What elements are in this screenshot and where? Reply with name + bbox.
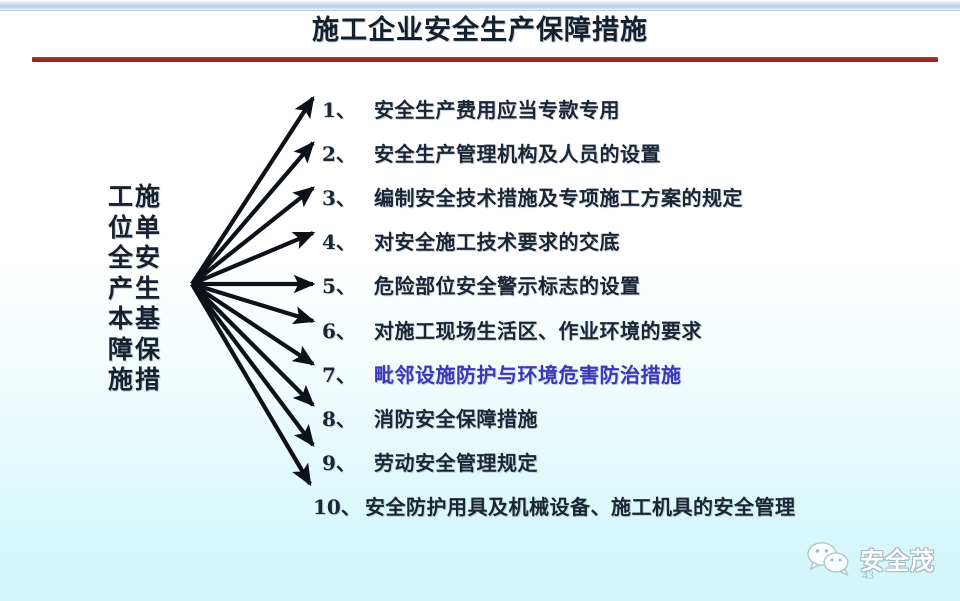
list-item: 6、 对施工现场生活区、作业环境的要求 [322,307,922,351]
list-item-label: 劳动安全管理规定 [374,447,538,476]
left-heading-column-right: 施 单 安 生 基 保 措 [135,182,160,396]
measures-list: 1、 安全生产费用应当专款专用 2、 安全生产管理机构及人员的设置 3、 编制安… [322,86,922,528]
left-heading-char: 措 [135,365,160,396]
list-item-number: 5、 [322,270,374,299]
list-item-label: 对安全施工技术要求的交底 [374,226,620,255]
left-heading-char: 单 [135,213,160,244]
list-item: 9、 劳动安全管理规定 [322,440,922,484]
list-item-number: 10、 [313,491,365,520]
arrow-to-item-3 [192,188,313,284]
list-item: 5、 危险部位安全警示标志的设置 [322,263,922,307]
left-heading-char: 本 [108,304,133,335]
list-item: 8、 消防安全保障措施 [322,395,922,439]
list-item: 3、 编制安全技术措施及专项施工方案的规定 [322,174,922,218]
left-heading-char: 产 [108,274,133,305]
arrow-to-item-6 [192,284,313,321]
list-item-label: 消防安全保障措施 [374,403,538,432]
arrow-to-item-2 [192,143,313,284]
left-heading-column-left: 工 位 全 产 本 障 施 [108,182,133,396]
left-heading-char: 安 [135,243,160,274]
wechat-icon [806,540,852,576]
left-heading-char: 全 [108,243,133,274]
page-number: 43 [862,568,874,583]
left-heading-char: 施 [135,182,160,213]
list-item-label: 对施工现场生活区、作业环境的要求 [374,315,702,344]
list-item-number: 1、 [322,94,374,123]
list-item-label: 安全生产管理机构及人员的设置 [374,138,661,167]
left-heading-char: 障 [108,335,133,366]
arrow-to-item-7 [192,284,313,364]
left-heading-char: 基 [135,304,160,335]
list-item-label: 安全防护用具及机械设备、施工机具的安全管理 [365,491,796,520]
arrow-to-item-8 [192,284,313,405]
list-item-number: 8、 [322,403,374,432]
left-heading-char: 施 [108,365,133,396]
list-item-number: 4、 [322,226,374,255]
list-item: 10、 安全防护用具及机械设备、施工机具的安全管理 [322,484,922,528]
list-item-label: 毗邻设施防护与环境危害防治措施 [374,359,682,388]
top-band-edge-line [0,10,960,11]
arrow-to-item-9 [192,284,313,445]
left-heading-char: 工 [108,182,133,213]
arrow-to-item-4 [192,233,313,284]
list-item-number: 2、 [322,138,374,167]
left-heading-char: 位 [108,213,133,244]
title-underline-rule [32,57,938,62]
left-heading-char: 保 [135,335,160,366]
arrow-to-item-1 [192,98,313,284]
list-item: 4、 对安全施工技术要求的交底 [322,219,922,263]
arrow-to-item-10 [192,284,310,484]
slide-canvas: 施工企业安全生产保障措施 施 单 安 生 基 保 措 工 位 全 产 本 障 施 [0,0,960,601]
list-item-number: 3、 [322,182,374,211]
list-item: 2、 安全生产管理机构及人员的设置 [322,130,922,174]
left-vertical-heading: 施 单 安 生 基 保 措 工 位 全 产 本 障 施 [108,182,160,396]
left-heading-char: 生 [135,274,160,305]
list-item-highlighted: 7、 毗邻设施防护与环境危害防治措施 [322,351,922,395]
list-item-label: 安全生产费用应当专款专用 [374,94,620,123]
page-title: 施工企业安全生产保障措施 [0,14,960,48]
list-item-number: 9、 [322,447,374,476]
list-item-number: 7、 [322,359,374,388]
list-item-number: 6、 [322,315,374,344]
list-item: 1、 安全生产费用应当专款专用 [322,86,922,130]
list-item-label: 编制安全技术措施及专项施工方案的规定 [374,182,743,211]
list-item-label: 危险部位安全警示标志的设置 [374,270,641,299]
